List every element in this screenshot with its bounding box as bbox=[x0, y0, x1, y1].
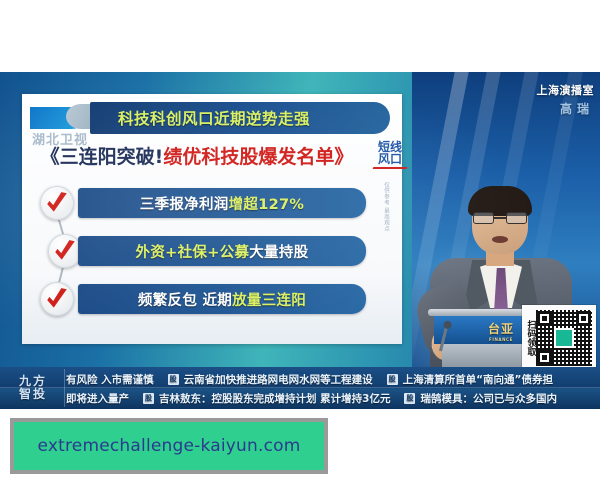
bullet-list: 三季报净利润增超127% 外资+社保+公募大量持股 频繁反包 近期放量三 bbox=[40, 186, 384, 326]
swoosh-logo-icon bbox=[30, 104, 116, 130]
watermark-domain-text: extremechallenge-kaiyun.com bbox=[38, 436, 301, 456]
video-player-frame[interactable]: 台亚 FINANCE 上海演播室 高瑞 湖北卫视 科技科创风口近期逆势走强 bbox=[0, 72, 600, 367]
host-name: 高瑞 bbox=[537, 100, 595, 117]
station-logo-text: 湖北卫视 bbox=[32, 129, 88, 148]
eyeglasses-icon bbox=[473, 212, 527, 224]
stock-marker-icon: 股 bbox=[168, 374, 179, 385]
list-item: 频繁反包 近期放量三连阳 bbox=[78, 284, 366, 314]
screenshot-canvas: 台亚 FINANCE 上海演播室 高瑞 湖北卫视 科技科创风口近期逆势走强 bbox=[0, 0, 600, 480]
page-title: 《三连阳突破! 绩优科技股爆发名单》 bbox=[32, 138, 362, 172]
qr-code-panel[interactable]: 扫码领取 bbox=[522, 305, 596, 367]
podium: 台亚 FINANCE bbox=[428, 309, 574, 367]
graphic-card: 湖北卫视 科技科创风口近期逆势走强 《三连阳突破! 绩优科技股爆发名单》 短线 … bbox=[22, 94, 402, 344]
ticker-row-1: 有风险 入市需谨慎 股云南省加快推进路网电网水网等工程建设 股上海清算所首单“南… bbox=[66, 369, 600, 389]
ticker-item: 股吉林敖东：控股股东完成增持计划 累计增持3亿元 bbox=[143, 391, 390, 406]
studio-location: 上海演播室 bbox=[537, 82, 595, 98]
ticker-item: 股云南省加快推进路网电网水网等工程建设 bbox=[168, 372, 373, 387]
qr-code-icon[interactable] bbox=[536, 310, 592, 366]
bullet-text-highlight: 放量三连阳 bbox=[232, 293, 306, 309]
podium-logo: 台亚 FINANCE bbox=[428, 320, 574, 342]
stock-marker-icon: 股 bbox=[143, 393, 154, 404]
headline-part-red: 绩优科技股爆发名单》 bbox=[163, 142, 353, 169]
studio-label: 上海演播室 高瑞 bbox=[537, 82, 595, 117]
news-ticker: 九方 智投 有风险 入市需谨慎 股云南省加快推进路网电网水网等工程建设 股上海清… bbox=[0, 367, 600, 409]
list-item: 外资+社保+公募大量持股 bbox=[78, 236, 366, 266]
disclaimer-text: 仅供参考 最高观点 bbox=[378, 182, 390, 231]
list-item: 三季报净利润增超127% bbox=[78, 188, 366, 218]
ribbon-headline: 科技科创风口近期逆势走强 bbox=[90, 102, 390, 134]
ticker-item: 股上海清算所首单“南向通”债券担 bbox=[387, 372, 553, 387]
ticker-brand-logo: 九方 智投 bbox=[4, 370, 62, 406]
station-logo: 湖北卫视 bbox=[30, 102, 122, 150]
microphone-icon bbox=[439, 325, 448, 351]
ticker-item: 股瑞鹄模具：公司已与众多国内 bbox=[404, 391, 557, 406]
microphone-icon bbox=[578, 326, 588, 352]
watermark-banner: extremechallenge-kaiyun.com bbox=[14, 422, 324, 470]
program-badge: 短线 风口 bbox=[368, 136, 412, 174]
qr-cta-text: 扫码领取 bbox=[525, 320, 534, 356]
stock-marker-icon: 股 bbox=[387, 374, 398, 385]
bullet-text-white: 频繁反包 近期 bbox=[138, 293, 232, 309]
bullet-text-highlight: 外资+社保+公募 bbox=[136, 245, 250, 261]
ticker-item: 有风险 入市需谨慎 bbox=[66, 372, 154, 387]
stock-marker-icon: 股 bbox=[404, 393, 415, 404]
ticker-item: 即将进入量产 bbox=[66, 391, 129, 406]
headline-part-navy: 《三连阳突破! bbox=[41, 142, 164, 169]
red-check-icon bbox=[48, 234, 82, 268]
bullet-text-highlight: 增超127% bbox=[229, 197, 305, 213]
ticker-row-2: 即将进入量产 股吉林敖东：控股股东完成增持计划 累计增持3亿元 股瑞鹄模具：公司… bbox=[66, 388, 600, 408]
bullet-text-white: 三季报净利润 bbox=[140, 197, 229, 213]
red-check-icon bbox=[40, 186, 74, 220]
presenter-figure bbox=[426, 190, 576, 367]
bullet-text-white: 大量持股 bbox=[249, 245, 308, 261]
studio-backdrop bbox=[412, 72, 600, 367]
red-check-icon bbox=[40, 282, 74, 316]
